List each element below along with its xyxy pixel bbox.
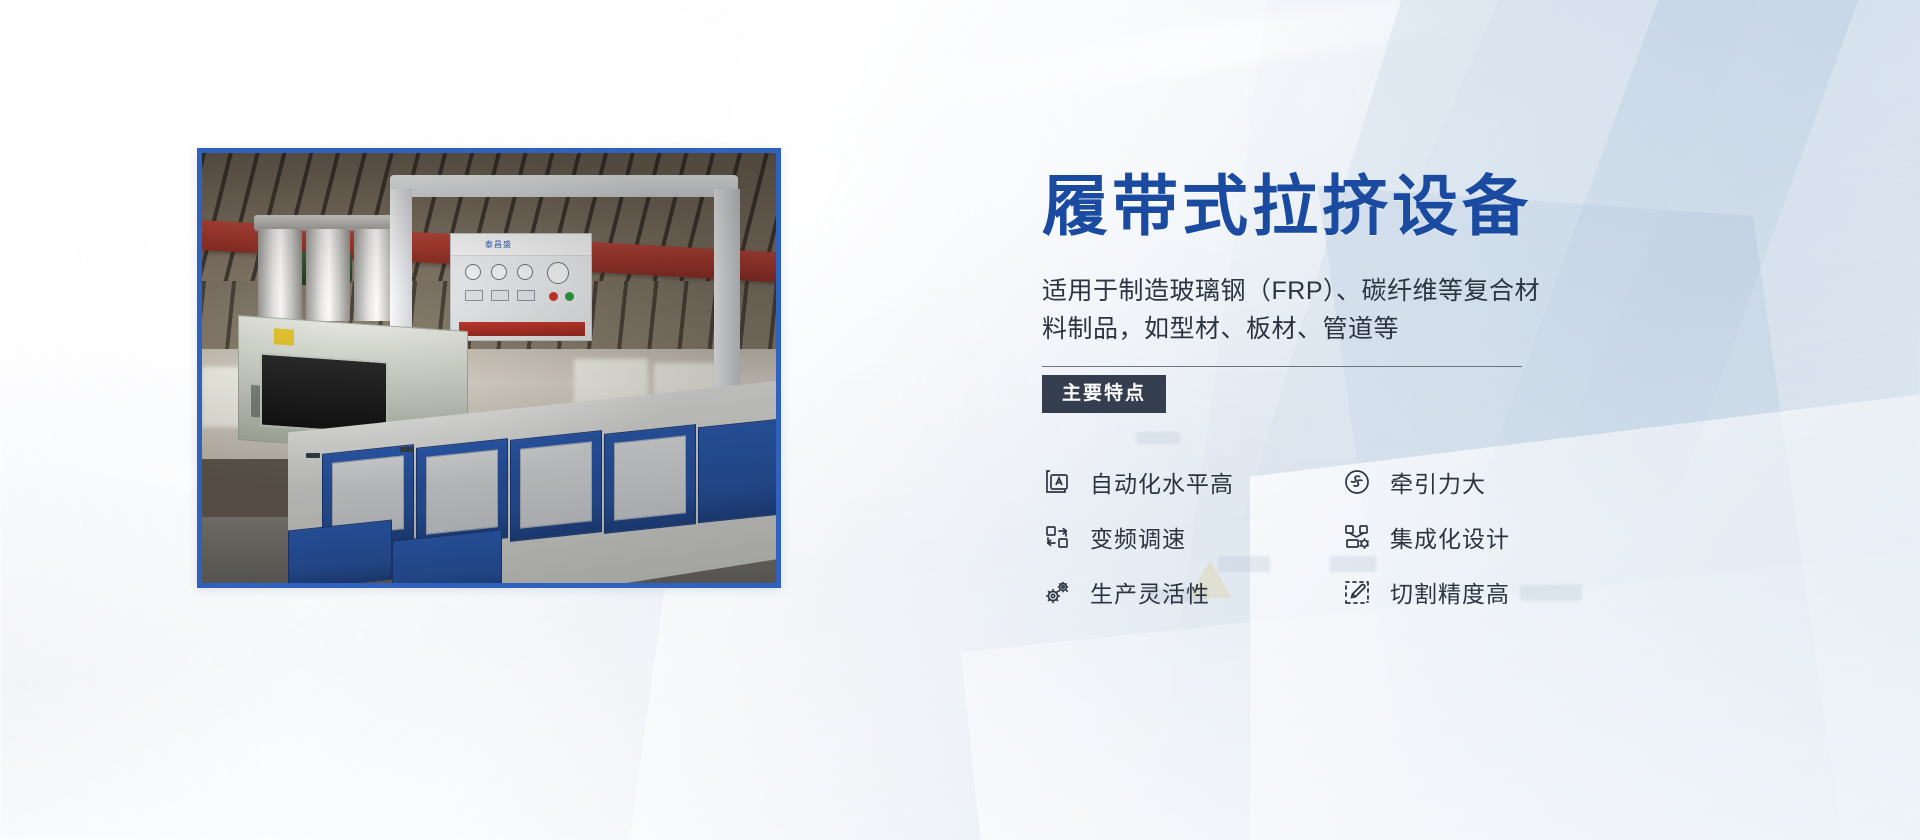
feature-item-cutting[interactable]: 切割精度高 [1342, 565, 1642, 620]
photo-warning-label [274, 328, 294, 345]
product-photo[interactable]: 生产 泰昌盛 [197, 148, 781, 588]
product-description: 适用于制造玻璃钢（FRP）、碳纤维等复合材 料制品，如型材、板材、管道等 [1042, 272, 1542, 348]
photo-control-panel-header [451, 234, 591, 256]
gears-icon [1042, 577, 1072, 607]
feature-item-automation[interactable]: 自动化水平高 [1042, 455, 1342, 510]
photo-control-panel-brand: 泰昌盛 [485, 239, 512, 250]
feature-label: 生产灵活性 [1090, 575, 1210, 609]
photo-blue-cabinet [698, 419, 776, 524]
feature-list: 自动化水平高 牵引力大 [1042, 455, 1662, 620]
photo-control-panel: 泰昌盛 [450, 233, 592, 341]
photo-switch [465, 290, 483, 301]
page-title: 履带式拉挤设备 [1042, 170, 1662, 244]
feature-label: 切割精度高 [1390, 575, 1510, 609]
feature-label: 集成化设计 [1390, 520, 1510, 554]
feature-label: 自动化水平高 [1090, 465, 1234, 499]
photo-gauge-large [547, 262, 569, 284]
status-badge: 主要特点 [1042, 375, 1166, 413]
description-line-2: 料制品，如型材、板材、管道等 [1042, 310, 1542, 348]
photo-switch [517, 290, 535, 301]
photo-resin-hopper [306, 229, 350, 321]
photo-cabinet-door [426, 449, 498, 535]
banner-content: 履带式拉挤设备 适用于制造玻璃钢（FRP）、碳纤维等复合材 料制品，如型材、板材… [1042, 170, 1662, 620]
photo-indicator-light [565, 292, 574, 301]
photo-gantry-beam [390, 175, 738, 197]
photo-gauge [465, 264, 481, 280]
photo-panel-label-strip [459, 322, 585, 336]
description-line-1: 适用于制造玻璃钢（FRP）、碳纤维等复合材 [1042, 272, 1542, 310]
photo-gauge [517, 264, 533, 280]
cut-precision-icon [1342, 577, 1372, 607]
photo-cabinet-handle [306, 453, 320, 458]
automation-panel-icon [1042, 467, 1072, 497]
photo-cabinet-door [520, 441, 592, 529]
photo-gauge [491, 264, 507, 280]
section-divider [1042, 366, 1522, 367]
feature-item-flexibility[interactable]: 生产灵活性 [1042, 565, 1342, 620]
frequency-speed-icon [1042, 522, 1072, 552]
integrated-design-icon [1342, 522, 1372, 552]
product-photo-image: 生产 泰昌盛 [202, 153, 776, 583]
photo-blue-cabinet [288, 520, 392, 583]
photo-indicator-light [549, 292, 558, 301]
feature-item-integrated[interactable]: 集成化设计 [1342, 510, 1642, 565]
photo-cabinet-handle [400, 447, 414, 452]
feature-label: 牵引力大 [1390, 465, 1486, 499]
product-banner: 生产 泰昌盛 [0, 0, 1920, 840]
photo-cabinet-door [614, 435, 686, 521]
feature-item-traction[interactable]: 牵引力大 [1342, 455, 1642, 510]
photo-resin-hopper [258, 229, 302, 321]
feature-label: 变频调速 [1090, 520, 1186, 554]
photo-switch [491, 290, 509, 301]
feature-item-frequency[interactable]: 变频调速 [1042, 510, 1342, 565]
traction-force-icon [1342, 467, 1372, 497]
